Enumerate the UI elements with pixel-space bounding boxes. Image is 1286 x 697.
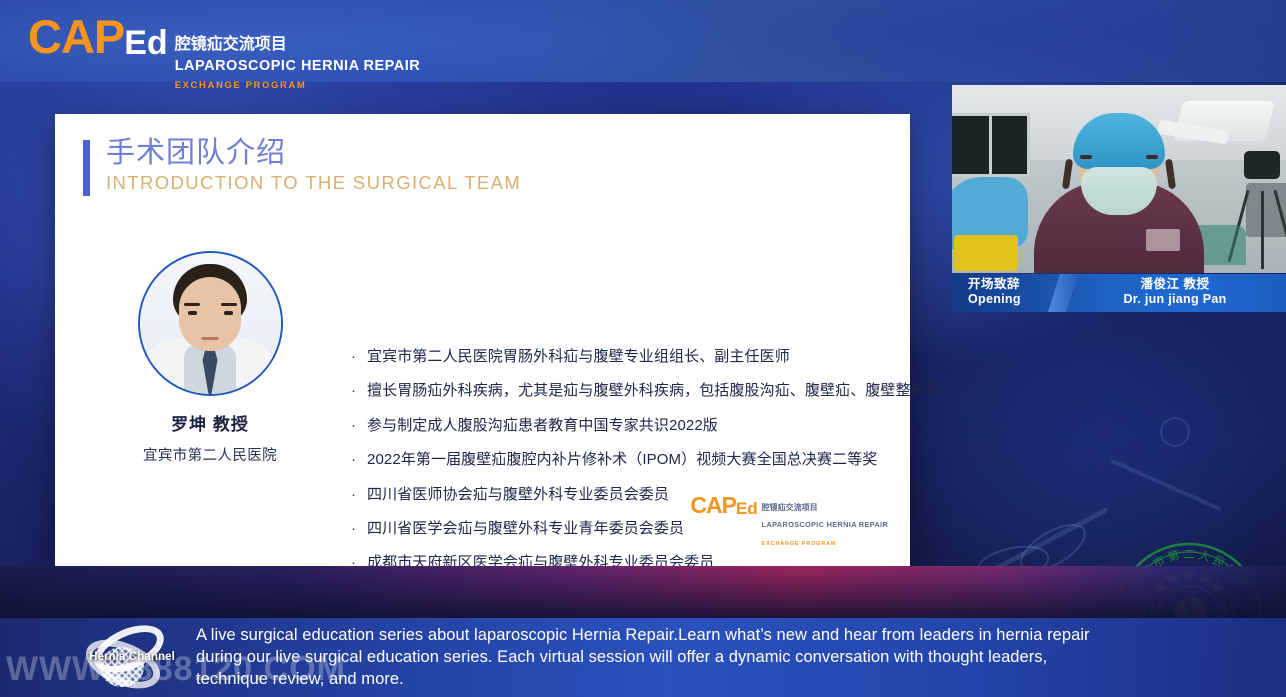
slide-title: 手术团队介绍 INTRODUCTION TO THE SURGICAL TEAM [83, 136, 521, 196]
bullet-marker: · [351, 346, 367, 368]
presentation-slide: 手术团队介绍 INTRODUCTION TO THE SURGICAL TEAM… [55, 114, 910, 566]
presenter-block: 罗坤 教授 宜宾市第二人民医院 [115, 251, 305, 465]
speaker-name-bar: 开场致辞 Opening 潘俊江 教授 Dr. jun jiang Pan [952, 274, 1286, 312]
caped-footer-chinese: 腔镜疝交流项目 [758, 496, 888, 513]
presenter-affiliation: 宜宾市第二人民医院 [115, 444, 305, 465]
credential-item: ·宜宾市第二人民医院胃肠外科疝与腹壁专业组组长、副主任医师 [351, 346, 951, 368]
caped-footer-ed: Ed [736, 496, 758, 517]
title-accent-bar [83, 140, 90, 196]
bullet-marker: · [351, 518, 367, 540]
presenter-photo [138, 251, 283, 396]
site-watermark: WWW.8888120.COM [6, 650, 346, 689]
caped-footer-line1: LAPAROSCOPIC HERNIA REPAIR [762, 520, 888, 529]
broadcast-screen: CAP Ed 腔镜疝交流项目 LAPAROSCOPIC HERNIA REPAI… [0, 0, 1286, 697]
speaker-name-cn: 潘俊江 教授 [1064, 277, 1286, 292]
bullet-marker: · [351, 415, 367, 437]
credential-item: ·参与制定成人腹股沟疝患者教育中国专家共识2022版 [351, 415, 951, 437]
bullet-marker: · [351, 484, 367, 506]
bottom-banner: A live surgical education series about l… [0, 618, 1286, 697]
bullet-marker: · [351, 449, 367, 471]
sharps-bin [954, 235, 1018, 271]
credential-item: ·擅长胃肠疝外科疾病，尤其是疝与腹壁外科疾病，包括腹股沟疝、腹壁疝、腹壁整形等 [351, 380, 951, 402]
speaker-video-tile[interactable] [952, 85, 1286, 273]
caped-logo-line1: LAPAROSCOPIC HERNIA REPAIR [175, 58, 421, 74]
surgical-instrument-icon [1160, 417, 1190, 447]
slide-title-cn: 手术团队介绍 [106, 136, 521, 170]
camera-tripod-icon [1261, 191, 1264, 269]
credential-text: 参与制定成人腹股沟疝患者教育中国专家共识2022版 [367, 415, 718, 437]
credential-text: 四川省医师协会疝与腹壁外科专业委员会委员 [367, 484, 669, 506]
caped-logo-cap: CAP [28, 17, 124, 57]
bullet-marker: · [351, 380, 367, 402]
caped-footer-line2: EXCHANGE PROGRAM [762, 541, 837, 547]
caped-logo: CAP Ed 腔镜疝交流项目 LAPAROSCOPIC HERNIA REPAI… [28, 17, 420, 93]
segment-label-cn: 开场致辞 [968, 277, 1064, 292]
slide-title-en: INTRODUCTION TO THE SURGICAL TEAM [106, 172, 521, 194]
credential-text: 2022年第一届腹壁疝腹腔内补片修补术（IPOM）视频大赛全国总决赛二等奖 [367, 449, 877, 471]
caped-logo-line2: EXCHANGE PROGRAM [175, 80, 307, 91]
credential-text: 擅长胃肠疝外科疾病，尤其是疝与腹壁外科疾病，包括腹股沟疝、腹壁疝、腹壁整形等 [367, 380, 941, 402]
segment-label-en: Opening [968, 292, 1064, 307]
or-window [952, 113, 1030, 177]
credential-text: 四川省医学会疝与腹壁外科专业青年委员会委员 [367, 518, 684, 540]
speaker-label: 潘俊江 教授 Dr. jun jiang Pan [1064, 274, 1286, 312]
presenter-name: 罗坤 教授 [115, 410, 305, 435]
caped-footer-cap: CAP [690, 496, 736, 516]
speaker-name-en: Dr. jun jiang Pan [1064, 292, 1286, 307]
caped-logo-chinese: 腔镜疝交流项目 [168, 17, 421, 54]
credential-text: 宜宾市第二人民医院胃肠外科疝与腹壁专业组组长、副主任医师 [367, 346, 790, 368]
caped-logo-ed: Ed [124, 17, 167, 58]
accent-band [0, 566, 1286, 618]
segment-label: 开场致辞 Opening [952, 274, 1064, 312]
credential-item: ·2022年第一届腹壁疝腹腔内补片修补术（IPOM）视频大赛全国总决赛二等奖 [351, 449, 951, 471]
caped-logo-footer: CAP Ed 腔镜疝交流项目 LAPAROSCOPIC HERNIA REPAI… [690, 496, 888, 550]
